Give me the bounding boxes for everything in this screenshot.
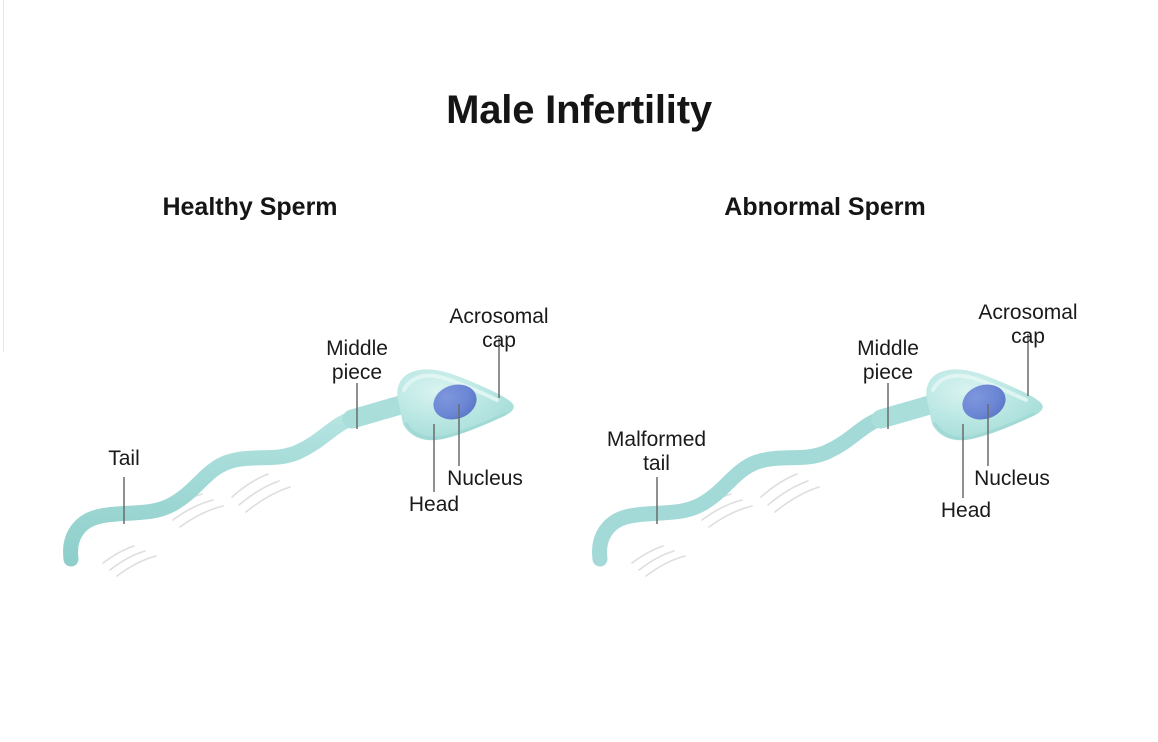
label-nucleus-healthy: Nucleus (435, 467, 535, 491)
label-head-abnormal: Head (916, 499, 1016, 523)
infertility-diagram: Male Infertility Healthy Sperm Abnormal … (0, 0, 1158, 742)
label-nucleus-abnormal: Nucleus (962, 467, 1062, 491)
label-tail-healthy: Tail (74, 447, 174, 471)
healthy-tail (71, 406, 393, 559)
healthy-middle-piece (352, 404, 404, 419)
label-head-healthy: Head (384, 493, 484, 517)
label-middle-piece-healthy: Middle piece (307, 337, 407, 384)
label-middle-piece-abnormal: Middle piece (838, 337, 938, 384)
label-acrosomal-cap-abnormal: Acrosomal cap (963, 301, 1093, 348)
abnormal-middle-piece (881, 404, 933, 419)
sperm-illustrations (0, 0, 1158, 742)
label-acrosomal-cap-healthy: Acrosomal cap (434, 305, 564, 352)
label-tail-abnormal: Malformed tail (589, 428, 724, 475)
